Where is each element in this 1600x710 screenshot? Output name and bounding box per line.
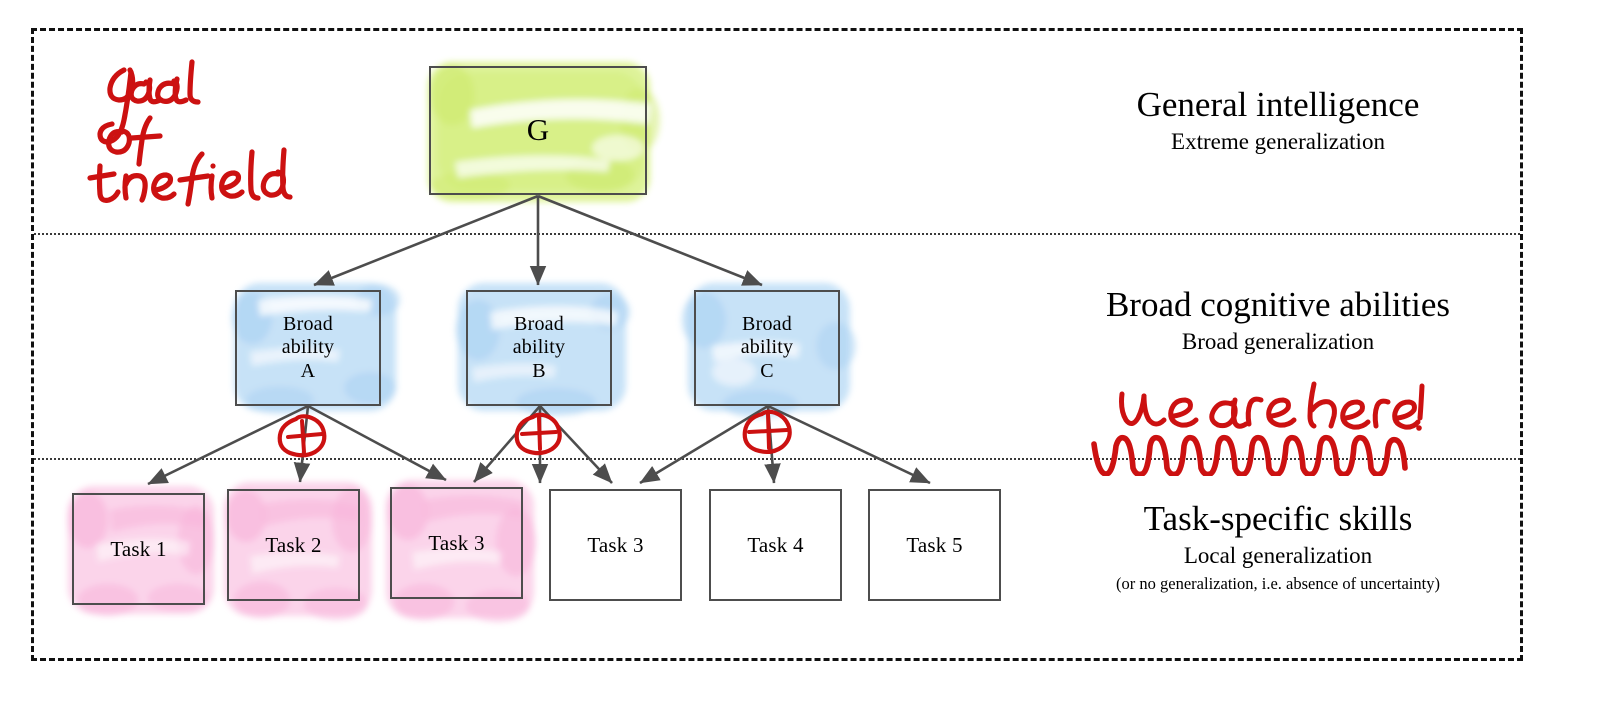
node-general-intelligence[interactable]: G (429, 66, 647, 195)
band-task-note: (or no generalization, i.e. absence of u… (1028, 574, 1528, 595)
node-broad-b-line2: ability (513, 336, 566, 358)
node-broad-ability-c[interactable]: Broad ability C (694, 290, 840, 406)
node-broad-b-line1: Broad (514, 313, 564, 335)
node-task-3-label: Task 3 (428, 531, 484, 556)
node-broad-a-line1: Broad (283, 313, 333, 335)
node-task-6-label: Task 5 (906, 533, 962, 558)
band-task-title: Task-specific skills (1028, 500, 1528, 539)
node-broad-ability-a[interactable]: Broad ability A (235, 290, 381, 406)
node-task-1-label: Task 1 (110, 537, 166, 562)
node-task-2[interactable]: Task 2 (227, 489, 360, 601)
band-broad-title: Broad cognitive abilities (1008, 286, 1548, 325)
node-broad-b-line3: B (532, 360, 546, 382)
band-general-title: General intelligence (1041, 86, 1515, 125)
band-divider-lower (34, 458, 1520, 460)
band-caption-general: General intelligence Extreme generalizat… (1041, 86, 1515, 156)
node-task-5[interactable]: Task 4 (709, 489, 842, 601)
node-broad-ability-b[interactable]: Broad ability B (466, 290, 612, 406)
band-caption-broad: Broad cognitive abilities Broad generali… (1008, 286, 1548, 356)
node-broad-c-line3: C (760, 360, 774, 382)
node-broad-c-label: Broad ability C (741, 313, 794, 384)
band-task-subtitle: Local generalization (1028, 542, 1528, 571)
node-task-3[interactable]: Task 3 (390, 487, 523, 599)
node-broad-a-label: Broad ability A (282, 313, 335, 384)
node-broad-b-label: Broad ability B (513, 313, 566, 384)
node-task-2-label: Task 2 (265, 533, 321, 558)
band-divider-upper (34, 233, 1520, 235)
node-general-label: G (527, 112, 550, 149)
band-general-subtitle: Extreme generalization (1041, 128, 1515, 157)
node-broad-a-line2: ability (282, 336, 335, 358)
node-task-1[interactable]: Task 1 (72, 493, 205, 605)
node-task-4-label: Task 3 (587, 533, 643, 558)
diagram-canvas: G Broad ability A Broad ability B Broad … (0, 0, 1600, 710)
band-caption-task: Task-specific skills Local generalizatio… (1028, 500, 1528, 595)
band-broad-subtitle: Broad generalization (1008, 328, 1548, 357)
node-broad-a-line3: A (301, 360, 316, 382)
node-task-5-label: Task 4 (747, 533, 803, 558)
node-broad-c-line2: ability (741, 336, 794, 358)
node-task-4[interactable]: Task 3 (549, 489, 682, 601)
node-task-6[interactable]: Task 5 (868, 489, 1001, 601)
node-broad-c-line1: Broad (742, 313, 792, 335)
